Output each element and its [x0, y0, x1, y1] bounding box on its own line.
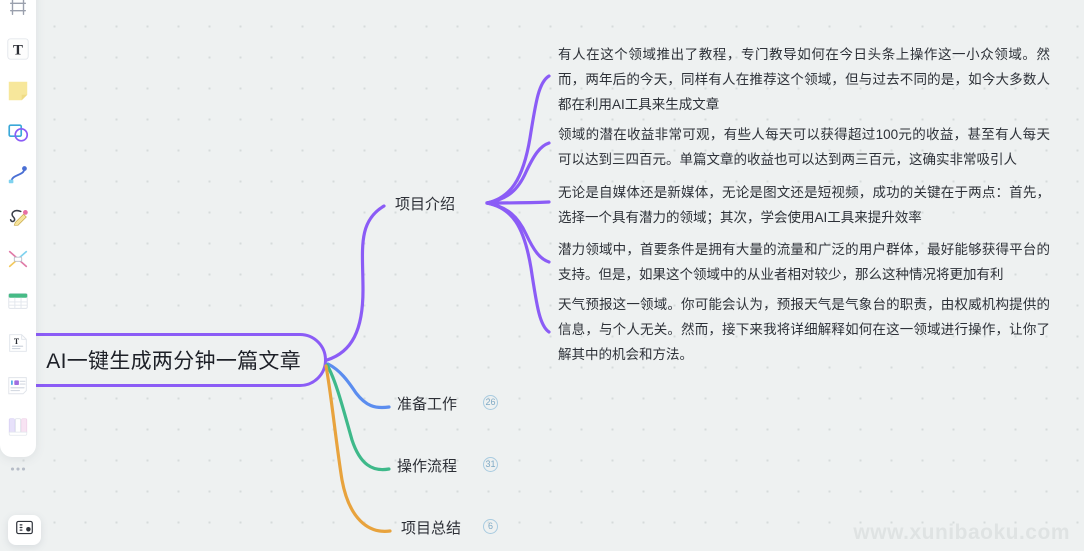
child-count-badge-summary[interactable]: 6	[483, 519, 498, 534]
mindmap-canvas[interactable]: ?，AI一键生成两分钟一篇文章 项目介绍 准备工作 26 操作流程 31 项目总…	[0, 0, 1084, 551]
mindmap-leaf-paragraph[interactable]: 潜力领域中，首要条件是拥有大量的流量和广泛的用户群体，最好能够获得平台的支持。但…	[558, 237, 1050, 287]
left-tool-rail[interactable]: T	[0, 0, 36, 457]
mindmap-node-prep[interactable]: 准备工作	[397, 393, 457, 414]
text-tool-button[interactable]: T	[2, 28, 34, 70]
shape-tool-button[interactable]	[2, 112, 34, 154]
site-watermark: www.xunibaoku.com	[853, 521, 1070, 545]
card-icon	[6, 373, 30, 397]
svg-text:T: T	[14, 337, 20, 346]
sticky-note-icon	[6, 79, 30, 103]
connector-tool-button[interactable]	[2, 238, 34, 280]
card-tool-button[interactable]	[2, 364, 34, 406]
mindmap-leaf-paragraph[interactable]: 无论是自媒体还是新媒体，无论是图文还是短视频，成功的关键在于两点：首先，选择一个…	[558, 180, 1050, 230]
frame-tool-button[interactable]	[2, 0, 34, 28]
pen-icon	[6, 205, 30, 229]
frame-icon	[7, 0, 29, 18]
child-count-badge-flow[interactable]: 31	[483, 457, 498, 472]
document-icon: T	[6, 331, 30, 355]
curve-line-tool-button[interactable]	[2, 154, 34, 196]
mindmap-root-node[interactable]: ?，AI一键生成两分钟一篇文章	[0, 333, 327, 387]
document-tool-button[interactable]: T	[2, 322, 34, 364]
mindmap-leaf-paragraph[interactable]: 有人在这个领域推出了教程，专门教导如何在今日头条上操作这一小众领域。然而，两年后…	[558, 42, 1050, 117]
curve-line-icon	[6, 163, 30, 187]
more-tools-button[interactable]	[2, 448, 34, 490]
mindmap-node-flow[interactable]: 操作流程	[397, 455, 457, 476]
table-tool-button[interactable]	[2, 280, 34, 322]
sticky-note-tool-button[interactable]	[2, 70, 34, 112]
minimap-button[interactable]	[8, 515, 41, 545]
kanban-icon	[6, 415, 30, 439]
mindmap-leaf-paragraph[interactable]: 领域的潜在收益非常可观，有些人每天可以获得超过100元的收益，甚至有人每天可以达…	[558, 122, 1050, 172]
mindmap-node-summary[interactable]: 项目总结	[401, 517, 461, 538]
mindmap-node-intro[interactable]: 项目介绍	[395, 193, 455, 214]
root-node-label: ?，AI一键生成两分钟一篇文章	[13, 345, 301, 375]
more-dots-icon	[7, 458, 29, 480]
mindmap-leaf-paragraph[interactable]: 天气预报这一领域。你可能会认为，预报天气是气象台的职责，由权威机构提供的信息，与…	[558, 292, 1050, 367]
connector-icon	[6, 247, 30, 271]
kanban-tool-button[interactable]	[2, 406, 34, 448]
pen-tool-button[interactable]	[2, 196, 34, 238]
shape-icon	[6, 121, 30, 145]
svg-text:T: T	[13, 43, 23, 59]
child-count-badge-prep[interactable]: 26	[483, 395, 498, 410]
text-tool-icon: T	[5, 36, 31, 62]
table-icon	[6, 289, 30, 313]
minimap-icon	[15, 518, 34, 542]
